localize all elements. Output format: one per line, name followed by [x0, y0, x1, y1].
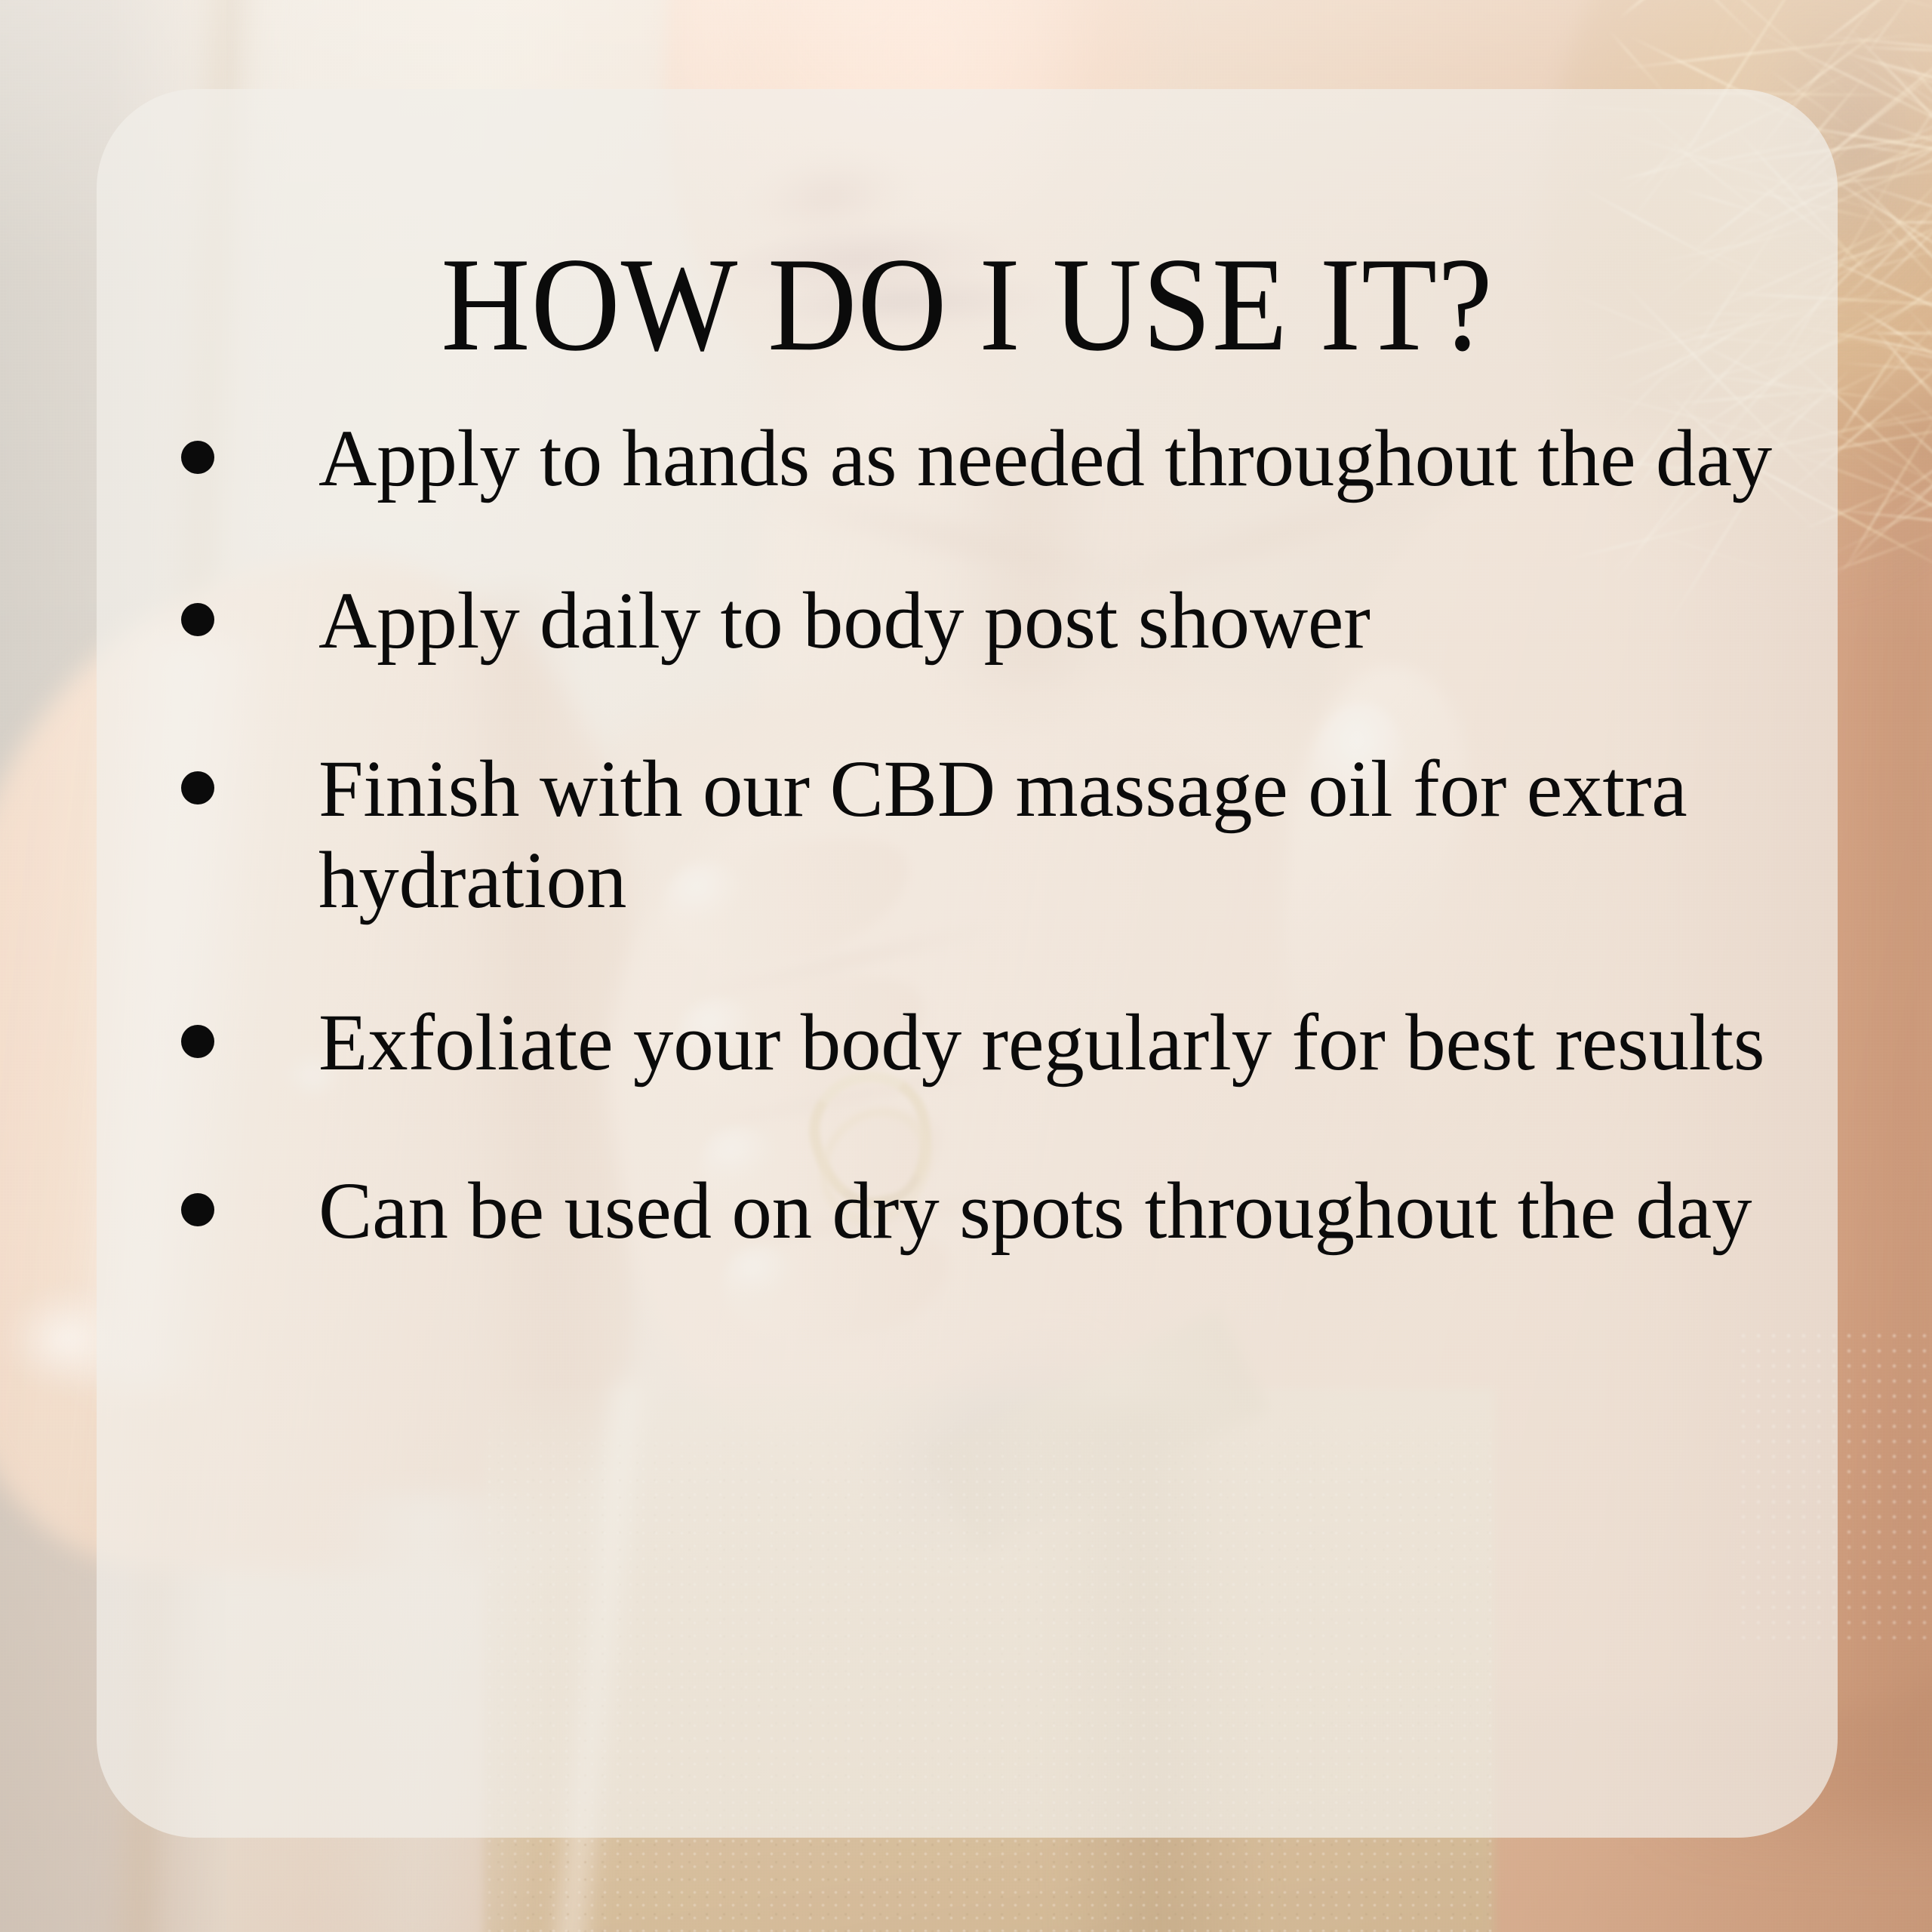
list-item: Finish with our CBD massage oil for extr…: [181, 744, 1796, 927]
list-item: Apply to hands as needed throughout the …: [181, 414, 1796, 505]
bullet-dot-icon: [181, 603, 214, 636]
poster: HOW DO I USE IT? Apply to hands as neede…: [0, 0, 1932, 1932]
bullet-dot-icon: [181, 1193, 214, 1226]
page-title: HOW DO I USE IT?: [166, 237, 1767, 371]
list-item: Exfoliate your body regularly for best r…: [181, 998, 1796, 1089]
bullet-dot-icon: [181, 441, 214, 474]
instructions-list: Apply to hands as needed throughout the …: [181, 414, 1796, 1257]
list-item-label: Exfoliate your body regularly for best r…: [318, 998, 1764, 1088]
list-item-label: Apply daily to body post shower: [318, 577, 1371, 666]
list-item-label: Finish with our CBD massage oil for extr…: [318, 745, 1687, 925]
content-layer: HOW DO I USE IT? Apply to hands as neede…: [97, 89, 1838, 1838]
list-item: Apply daily to body post shower: [181, 576, 1796, 667]
bullet-dot-icon: [181, 771, 214, 804]
list-item-label: Apply to hands as needed throughout the …: [318, 414, 1772, 503]
bullet-dot-icon: [181, 1025, 214, 1058]
list-item: Can be used on dry spots throughout the …: [181, 1166, 1796, 1257]
list-item-label: Can be used on dry spots throughout the …: [318, 1167, 1752, 1256]
